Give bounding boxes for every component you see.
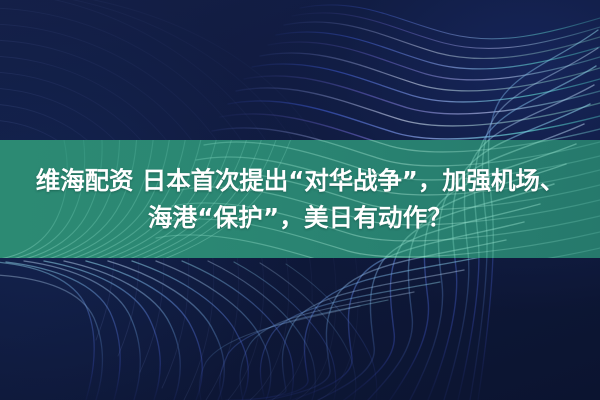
headline-band [0,140,600,258]
news-banner: 维海配资 日本首次提出“对华战争”，加强机场、 海港“保护”，美日有动作？ [0,0,600,400]
wave-pattern-band [0,140,600,258]
